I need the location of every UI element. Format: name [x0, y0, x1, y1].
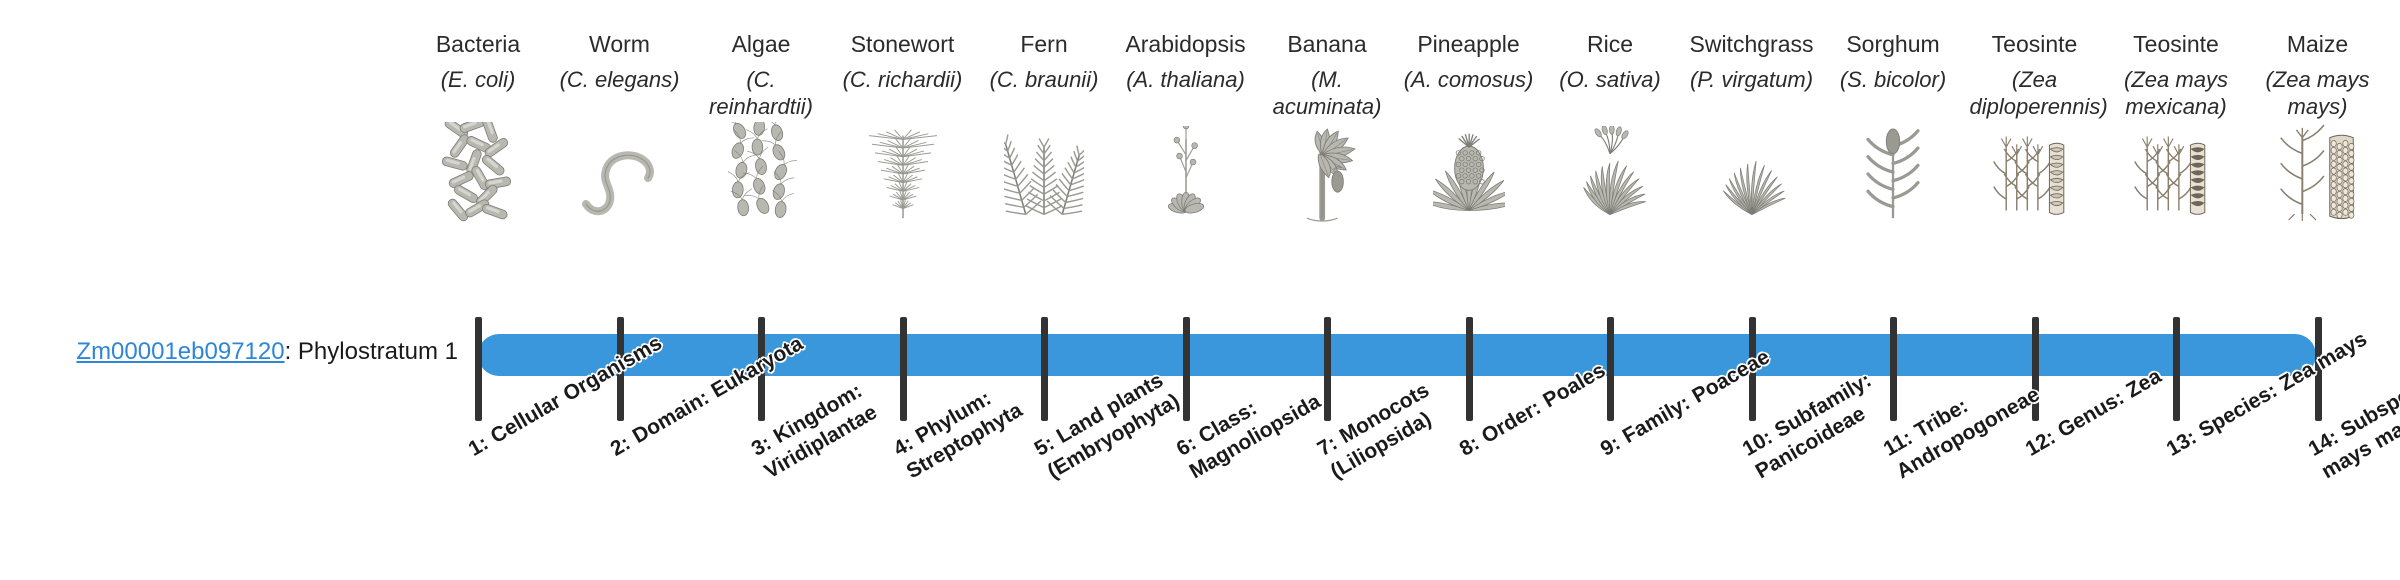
phylostratum-number: 8: [1455, 432, 1483, 461]
gene-phylostratum-value: Phylostratum 1 [298, 338, 458, 365]
phylostratum-rank-text: Tribe: Andropogoneae [1893, 383, 2044, 483]
phylostratum-number: 9: [1597, 432, 1625, 461]
phylostratum-rank-text: Phylum: Streptophyta [902, 387, 1026, 484]
phylostratum-rank-text: Class: Magnoliopsida [1185, 390, 1324, 483]
phylostratigraphy-figure: Zm00001eb097120: Phylostratum 1 Bacteria… [0, 0, 2400, 580]
phylostratum-number: 1: [465, 432, 493, 461]
gene-label-separator: : [285, 338, 298, 365]
phylostratum-number: 13: [2163, 426, 2201, 461]
phylostratum-label-group: 1: Cellular Organisms2: Domain: Eukaryot… [470, 0, 2370, 580]
phylostratum-rank-text: Subfamily: Panicoideae [1751, 369, 1875, 484]
gene-phylostratum-label: Zm00001eb097120: Phylostratum 1 [38, 337, 458, 367]
phylostratum-number: 2: [606, 432, 634, 461]
gene-id-link[interactable]: Zm00001eb097120 [76, 338, 284, 365]
phylostratum-number: 12: [2021, 426, 2059, 461]
phylostratum-rank-text: Kingdom: Viridiplantae [761, 379, 881, 483]
